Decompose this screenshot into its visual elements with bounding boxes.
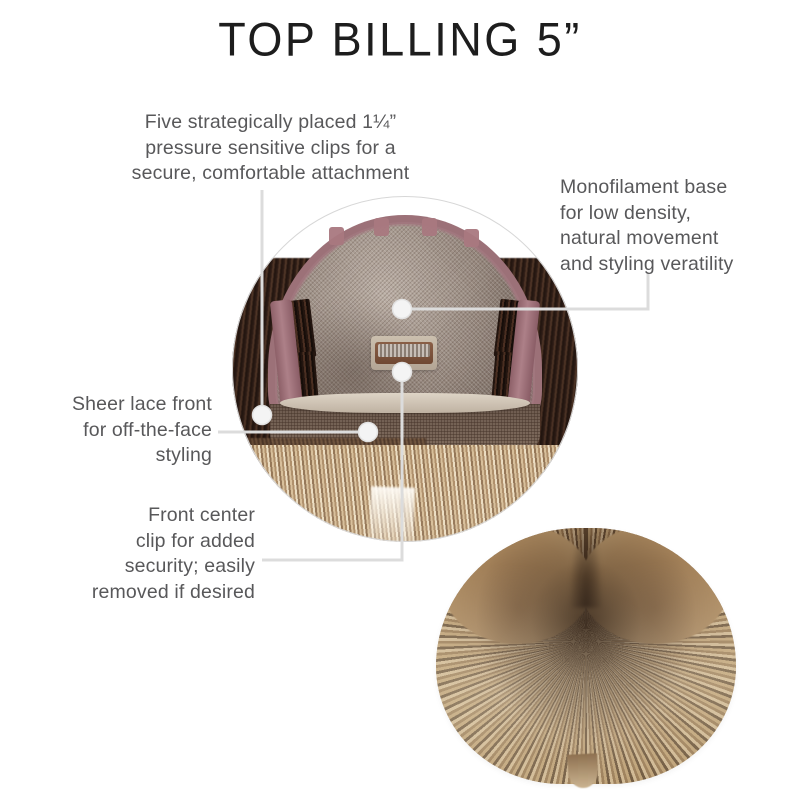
infographic-page: TOP BILLING 5” xyxy=(0,0,800,800)
clips-callout: Five strategically placed 1¼” pressure s… xyxy=(108,110,433,187)
callout-line: styling xyxy=(40,443,212,469)
callout-line: for low density, xyxy=(560,201,800,227)
callout-line: Front center xyxy=(60,503,255,529)
callout-line: clip for added xyxy=(60,529,255,555)
front-center-clip-callout: Front center clip for added security; ea… xyxy=(60,503,255,605)
clip-metal-comb xyxy=(375,342,433,364)
page-title: TOP BILLING 5” xyxy=(0,12,800,67)
clip-tab xyxy=(329,227,344,245)
callout-line: natural movement xyxy=(560,226,800,252)
front-center-clip xyxy=(371,336,437,370)
callout-line: pressure sensitive clips for a xyxy=(108,136,433,162)
callout-line: secure, comfortable attachment xyxy=(108,161,433,187)
clip-tab xyxy=(464,229,479,247)
lace-front-seam xyxy=(280,393,529,413)
hair-lobe-right xyxy=(580,528,730,644)
callout-line: Five strategically placed 1¼” xyxy=(108,110,433,136)
callout-line: and styling veratility xyxy=(560,252,800,278)
lace-front-callout: Sheer lace front for off-the-face stylin… xyxy=(40,392,212,469)
monofilament-callout: Monofilament base for low density, natur… xyxy=(560,175,800,277)
hair-crown-notch xyxy=(569,528,603,608)
wig-cap-construction-photo xyxy=(232,196,578,542)
clip-tab xyxy=(374,218,389,236)
callout-line: for off-the-face xyxy=(40,418,212,444)
callout-line: removed if desired xyxy=(60,580,255,606)
hair-lobe-left xyxy=(442,528,592,644)
cap-illustration xyxy=(232,196,578,542)
hairpiece-product-photo xyxy=(398,520,800,800)
hair-topper xyxy=(436,528,736,784)
callout-line: Monofilament base xyxy=(560,175,800,201)
clip-tab xyxy=(422,218,437,236)
callout-line: security; easily xyxy=(60,554,255,580)
callout-line: Sheer lace front xyxy=(40,392,212,418)
